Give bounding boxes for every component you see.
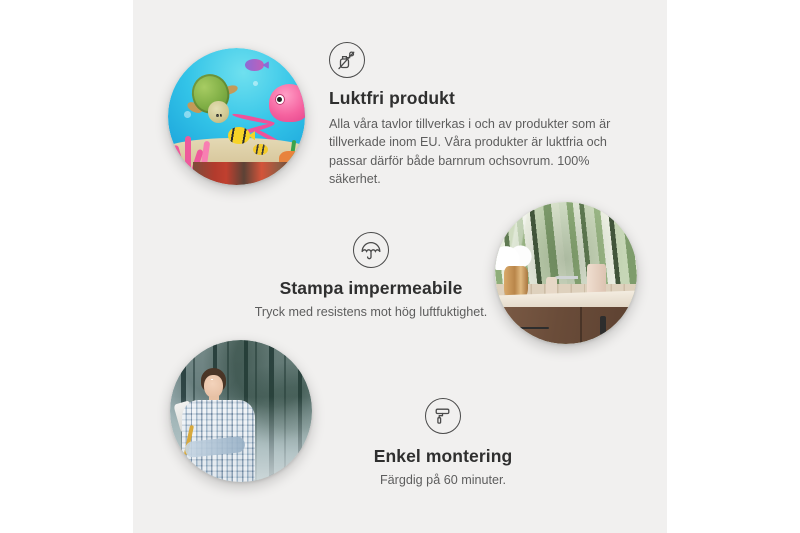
underwater-cartoon-photo-inner (168, 48, 305, 185)
feature-waterproof: Stampa impermeabile Tryck med resistens … (221, 232, 521, 321)
decorator-portrait-photo-inner (170, 340, 312, 482)
feature-description: Färgdig på 60 minuter. (318, 471, 568, 489)
small-fish-icon (253, 144, 268, 155)
feature-title: Stampa impermeabile (221, 278, 521, 299)
coral-branch (172, 145, 185, 174)
decorator-person (179, 368, 264, 482)
feature-description: Tryck med resistens mot hög luftfuktighe… (221, 303, 521, 321)
feature-description: Alla våra tavlor tillverkas i och av pro… (329, 115, 624, 189)
feature-title: Enkel montering (318, 446, 568, 467)
decorator-portrait-photo (170, 340, 312, 482)
turtle-eye (220, 114, 222, 118)
turtle-head (208, 101, 230, 123)
umbrella-icon (353, 232, 389, 268)
paint-roller-icon (425, 398, 461, 434)
sea-floor-strip (193, 162, 292, 185)
yellow-fish-icon (228, 127, 250, 143)
feature-assembly: Enkel montering Färgdig på 60 minuter. (318, 398, 568, 489)
face (204, 375, 223, 398)
drawer-handle (518, 327, 549, 329)
door-handle (600, 316, 606, 335)
underwater-cartoon-photo (168, 48, 305, 185)
coral-branch (185, 136, 191, 174)
turtle-icon (187, 74, 247, 129)
feature-panel: Luktfri produkt Alla våra tavlor tillver… (133, 0, 667, 533)
no-fragrance-icon (329, 42, 365, 78)
octopus-head (269, 84, 305, 123)
feature-odourless: Luktfri produkt Alla våra tavlor tillver… (329, 42, 624, 189)
octopus-icon (256, 84, 305, 144)
bathroom-interior-photo (495, 202, 637, 344)
smile (211, 379, 213, 380)
turtle-eye (216, 114, 218, 118)
wooden-vanity-cabinet (501, 307, 637, 344)
cabinet-seam (580, 307, 582, 344)
feature-title: Luktfri produkt (329, 88, 624, 109)
bathroom-interior-photo-inner (495, 202, 637, 344)
octopus-eye (275, 94, 286, 106)
